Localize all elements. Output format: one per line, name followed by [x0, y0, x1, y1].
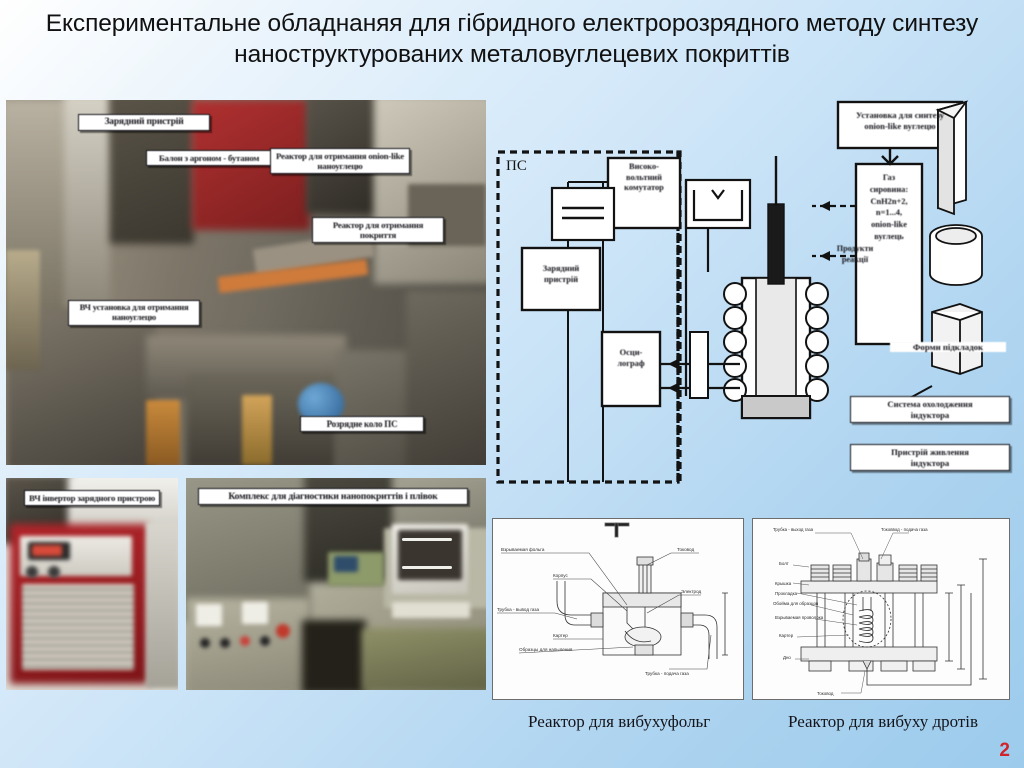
callout-hf-nanocarbon-unit: ВЧ установка для отримання наноуглецю	[68, 300, 200, 326]
svg-text:Трубка - выход газа: Трубка - выход газа	[773, 527, 814, 532]
schema-label-onion-unit: Установка для синтезу onion-like вуглецю	[840, 110, 960, 132]
svg-text:Картер: Картер	[553, 633, 568, 638]
measuring-probe-box	[686, 180, 750, 228]
svg-text:Трубка - подача газа: Трубка - подача газа	[645, 671, 689, 676]
callout-diagnostics-complex: Комплекс для діагностики нанопокриттів і…	[198, 488, 468, 505]
svg-text:Токоввод - подача газа: Токоввод - подача газа	[881, 527, 928, 532]
callout-ps-discharge-circuit: Розрядне коло ПС	[300, 416, 424, 432]
svg-text:Болт: Болт	[779, 561, 789, 566]
photo-content	[186, 478, 486, 690]
svg-text:Взрываемая фольга: Взрываемая фольга	[501, 547, 545, 552]
svg-text:Картер: Картер	[779, 633, 794, 638]
svg-text:Электрод: Электрод	[681, 589, 702, 594]
experimental-setup-photo: Зарядний пристрій Балон з аргоном - бута…	[6, 100, 486, 465]
schema-label-inductor-cooling: Система охолодження індуктора	[850, 396, 1010, 423]
diagnostics-complex-photo: Комплекс для діагностики нанопокриттів і…	[186, 478, 486, 690]
callout-hf-inverter: ВЧ інвертор зарядного пристрою	[24, 490, 160, 506]
wire-reactor-caption: Реактор для вибуху дротів	[788, 712, 978, 732]
foil-reactor-caption: Реактор для вибухуфольг	[528, 712, 710, 732]
svg-text:Крышка: Крышка	[775, 581, 792, 586]
schema-label-reaction-products: Продукти реакції	[826, 244, 884, 265]
substrate-shapes	[930, 102, 982, 374]
hf-inverter-photo: ВЧ інвертор зарядного пристрою	[6, 478, 178, 690]
svg-text:Трубка - вывод газа: Трубка - вывод газа	[497, 607, 540, 612]
slide-canvas: Експериментальне обладнаняя для гібридно…	[0, 0, 1024, 768]
svg-text:Токовод: Токовод	[677, 547, 694, 552]
wire-explosion-reactor-drawing: Трубка - выход газа Токоввод - подача га…	[752, 518, 1010, 700]
svg-text:Корпус: Корпус	[553, 573, 569, 578]
callout-coating-reactor: Реактор для отримання покриття	[312, 217, 444, 243]
schema-label-ps: ПС	[506, 158, 527, 175]
schema-label-hv-switch: Високо- вольтний комутатор	[610, 162, 678, 194]
callout-onion-like-reactor: Реактор для отримання onion-like наноугл…	[270, 148, 410, 174]
page-number: 2	[999, 740, 1010, 762]
capacitor-symbol	[552, 188, 614, 240]
schema-label-inductor-power: Пристрій живлення індуктора	[850, 444, 1010, 471]
svg-text:Дно: Дно	[783, 655, 791, 660]
page-title: Експериментальне обладнаняя для гібридно…	[18, 8, 1006, 70]
schema-label-charger: Зарядний пристрій	[524, 264, 598, 286]
foil-explosion-reactor-drawing: Взрываемая фольга Корпус Токовод Электро…	[492, 518, 744, 700]
callout-charging-device: Зарядний пристрій	[78, 114, 210, 131]
svg-text:Образцы для напыления: Образцы для напыления	[519, 647, 573, 652]
schema-label-oscilloscope: Осци- лограф	[604, 348, 658, 370]
callout-argon-butane-cylinder: Балон з аргоном - бутаном	[146, 150, 272, 166]
schema-label-gas-feed: Газ сировина: CnH2n+2, n=1...4, onion-li…	[858, 172, 920, 243]
photo-content	[6, 478, 178, 690]
block-diagram: ПС Високо- вольтний комутатор Зарядний п…	[490, 96, 1020, 496]
svg-text:Прокладка: Прокладка	[775, 591, 798, 596]
svg-text:Токовод: Токовод	[817, 691, 834, 696]
schema-label-substrate-forms: Форми підкладок	[890, 342, 1006, 352]
